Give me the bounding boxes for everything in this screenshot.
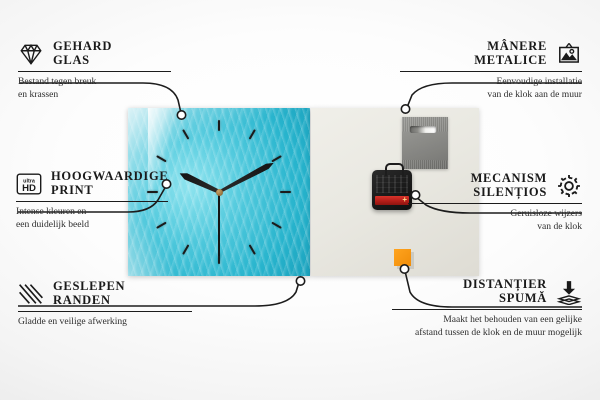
diamond-icon bbox=[18, 41, 44, 67]
metal-hanger-plate bbox=[402, 117, 448, 169]
callout-title: MÂNERE METALICE bbox=[474, 40, 547, 67]
aa-battery bbox=[375, 196, 409, 205]
connector-endpoint bbox=[296, 277, 304, 285]
orange-foam-spacer bbox=[394, 249, 411, 266]
clock-hub bbox=[216, 189, 223, 196]
clock-tick bbox=[219, 191, 291, 193]
svg-text:HD: HD bbox=[22, 183, 36, 194]
callout-title: GESLEPEN RANDEN bbox=[53, 280, 125, 307]
clock-tick bbox=[219, 191, 282, 229]
callout-subtitle: Intense kleuren en een duidelijk beeld bbox=[16, 206, 206, 230]
callout-title: MECANISM SILENȚIOS bbox=[471, 172, 547, 199]
hanger-slot bbox=[410, 126, 436, 133]
diagonal-edges-icon bbox=[18, 281, 44, 307]
callout-subtitle: Bestand tegen breuk en krassen bbox=[18, 76, 198, 100]
clock-second-hand bbox=[218, 192, 220, 256]
callout-hoogwaardige-print: ultra HD HOOGWAARDIGE PRINT Intense kleu… bbox=[16, 170, 206, 231]
callout-title: DISTANȚIER SPUMĂ bbox=[463, 278, 547, 305]
callout-title: GEHARD GLAS bbox=[53, 40, 112, 67]
callout-subtitle: Eenvoudige installatie van de klok aan d… bbox=[400, 76, 582, 100]
callout-divider bbox=[18, 311, 192, 312]
callout-divider bbox=[400, 71, 582, 72]
callout-divider bbox=[18, 71, 171, 72]
ultra-hd-icon: ultra HD bbox=[16, 171, 42, 197]
callout-geslepen-randen: GESLEPEN RANDEN Gladde en veilige afwerk… bbox=[18, 280, 218, 329]
picture-hanger-icon bbox=[556, 41, 582, 67]
callout-subtitle: Geruisloze wijzers van de klok bbox=[408, 208, 582, 232]
callout-title: HOOGWAARDIGE PRINT bbox=[51, 170, 168, 197]
foam-spacer-icon bbox=[556, 279, 582, 305]
callout-divider bbox=[16, 201, 168, 202]
callout-mecanism-silentios: MECANISM SILENȚIOS Geruisloze wijzers va… bbox=[408, 172, 582, 233]
callout-divider bbox=[392, 309, 582, 310]
callout-manere-metalice: MÂNERE METALICE Eenvoudige installatie v… bbox=[400, 40, 582, 101]
gear-icon bbox=[556, 173, 582, 199]
clock-mechanism bbox=[372, 170, 412, 210]
mechanism-texture bbox=[376, 175, 408, 193]
callout-divider bbox=[408, 203, 582, 204]
infographic-canvas: GEHARD GLAS Bestand tegen breuk en krass… bbox=[0, 0, 600, 400]
clock-tick bbox=[218, 120, 220, 192]
callout-subtitle: Gladde en veilige afwerking bbox=[18, 316, 218, 328]
callout-subtitle: Maakt het behouden van een gelijke afsta… bbox=[392, 314, 582, 338]
callout-distantier-spuma: DISTANȚIER SPUMĂ Maakt het behouden van … bbox=[392, 278, 582, 339]
callout-gehard-glas: GEHARD GLAS Bestand tegen breuk en krass… bbox=[18, 40, 198, 101]
clock-tick bbox=[218, 192, 220, 264]
